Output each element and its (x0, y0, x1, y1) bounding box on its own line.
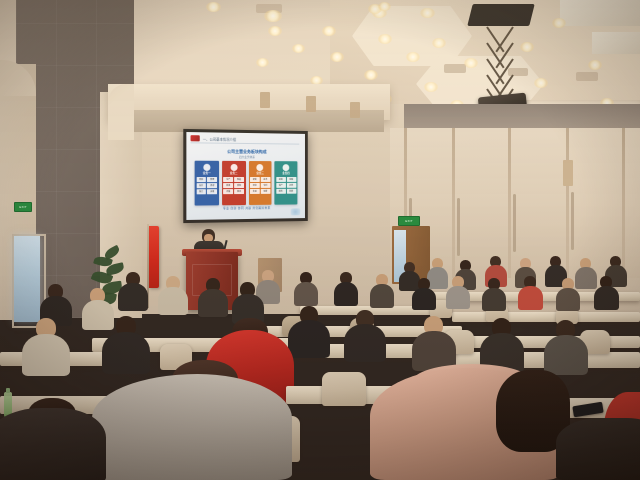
slide-footer: 专业·创新·协同·共赢 共创美好未来 (186, 205, 305, 210)
attendee-body (102, 332, 150, 374)
slide-card-title: 业务四 (275, 171, 298, 175)
foreground-dark-person-left (0, 408, 106, 480)
slide-cell: 物流 (234, 189, 244, 194)
attendee-body (575, 267, 597, 289)
slide-card-grid: 投资 金融 资产 运营 服务 拓展 (275, 176, 298, 194)
attendee-body (344, 324, 386, 362)
slide-cell: 生产 (223, 177, 233, 182)
partition-seam (622, 128, 625, 278)
partition-handle[interactable] (571, 192, 574, 250)
soffit-face (116, 110, 384, 132)
attendee-body (412, 288, 436, 310)
slide-cell: 转化 (250, 182, 260, 187)
downlight (206, 2, 221, 12)
slide-cell: 检测 (223, 183, 233, 188)
exit-sign-left: EXIT (14, 202, 32, 212)
attendee-body (594, 286, 619, 310)
slide-cell: 咨询 (207, 183, 217, 188)
slide-cell: 金融 (287, 176, 296, 181)
slide-cell: 技术 (261, 176, 271, 181)
exit-sign-right: EXIT (398, 216, 420, 226)
foreground-gray-sweater-person (92, 374, 292, 480)
slide-breadcrumb: 一、公司基本情况介绍 (203, 136, 236, 142)
slide-card-grid: 项目 管理 设计 咨询 施工 运维 (195, 177, 219, 196)
foreground-dark-person-right (556, 418, 640, 480)
skylight-2 (592, 32, 640, 54)
slide-watermark-icon (291, 208, 301, 215)
slide-card-title: 业务二 (222, 171, 246, 175)
wall-bracket-2 (306, 96, 316, 112)
attendee-body (544, 335, 588, 375)
table-row (452, 312, 640, 322)
wall-bracket-3 (350, 102, 360, 118)
partition-seam (508, 128, 511, 278)
ceiling-vent-1 (444, 64, 466, 73)
downlight (322, 26, 336, 36)
slide-subtitle: 四大业务体系 (186, 155, 305, 160)
projection-screen-frame: 一、公司基本情况介绍 公司主营业务板块构成 四大业务体系 业务一 项目 管理 设… (183, 129, 308, 223)
slide-card-title: 业务三 (248, 171, 271, 175)
partition-plate (563, 160, 573, 186)
slide-cell: 服务 (276, 188, 286, 193)
downlight (268, 26, 282, 36)
downlight (330, 52, 344, 62)
projection-screen-surface: 一、公司基本情况介绍 公司主营业务板块构成 四大业务体系 业务一 项目 管理 设… (186, 132, 305, 220)
downlight (264, 10, 282, 22)
exit-sign-left-label: EXIT (19, 206, 26, 209)
slide-cell: 运营 (287, 182, 296, 187)
slide-cell: 制造 (234, 177, 244, 182)
downlight (256, 58, 269, 67)
ceiling-hatch (467, 4, 534, 26)
slide-cell: 投资 (276, 176, 286, 181)
downlight (432, 38, 446, 48)
slide-card-blue: 业务一 项目 管理 设计 咨询 施工 运维 (195, 161, 219, 206)
chair (322, 372, 366, 406)
downlight (378, 2, 391, 11)
slide-card-title: 业务一 (195, 171, 219, 175)
downlight (420, 8, 435, 18)
slide-cell: 研发 (250, 176, 260, 181)
slide-cell: 创新 (261, 188, 271, 193)
downlight (378, 34, 392, 44)
slide-cell: 质控 (234, 183, 244, 188)
slide-cell: 设计 (196, 183, 206, 188)
attendee-body (556, 288, 580, 311)
slide-cell: 拓展 (287, 188, 296, 193)
slide-cell: 专利 (261, 182, 271, 187)
slide-card-teal: 业务四 投资 金融 资产 运营 服务 拓展 (275, 161, 298, 205)
chart-icon (283, 164, 290, 171)
lecture-hall-photo: EXIT EXIT 一、公司基本情况介绍 公司主营业务板块构成 四大业务体系 (0, 0, 640, 480)
attendee-body (294, 282, 318, 306)
partition-handle[interactable] (457, 198, 460, 256)
slide-logo-icon (191, 135, 200, 141)
slide-cell: 项目 (196, 177, 206, 182)
partition-seam (452, 128, 455, 278)
red-flag (149, 226, 159, 288)
downlight (364, 70, 378, 80)
downlight (588, 60, 602, 70)
attendee-body (198, 289, 228, 317)
attendee-body (288, 320, 330, 358)
wall-bracket-1 (260, 92, 270, 108)
attendee-body (22, 334, 70, 376)
left-window (14, 236, 40, 322)
slide-card-grid: 生产 制造 检测 质控 仓储 物流 (222, 177, 246, 196)
slide-card-row: 业务一 项目 管理 设计 咨询 施工 运维 业务二 生产 制造 (195, 161, 298, 206)
attendee-body (370, 284, 394, 308)
slide-card-orange: 业务三 研发 技术 转化 专利 实验 创新 (248, 161, 271, 205)
attendee-body (518, 286, 543, 310)
slide-cell: 实验 (250, 188, 260, 193)
slide-cell: 运维 (207, 189, 217, 194)
attendee-body (82, 300, 114, 330)
slide-cell: 施工 (196, 189, 206, 194)
attendee-body (446, 286, 470, 309)
slide-cell: 仓储 (223, 189, 233, 194)
slide-card-red: 业务二 生产 制造 检测 质控 仓储 物流 (222, 161, 246, 205)
partition-handle[interactable] (513, 194, 516, 252)
skylight-1 (560, 0, 640, 26)
attendee-body (158, 287, 188, 315)
attendee-body (482, 288, 506, 311)
attendee-body (399, 271, 420, 291)
lightbulb-icon (257, 164, 264, 171)
downlight (552, 18, 566, 28)
attendee-body (427, 267, 448, 289)
downlight (406, 52, 420, 62)
ceiling-vent-3 (576, 72, 598, 81)
attendee-body (118, 283, 148, 311)
slide-cell: 资产 (276, 182, 286, 187)
partition-seam (566, 128, 569, 278)
exit-sign-right-label: EXIT (405, 220, 412, 223)
factory-icon (230, 163, 237, 170)
downlight (464, 58, 478, 68)
downlight (520, 42, 534, 52)
recycle-icon (203, 163, 210, 170)
scissor-lift-arm (487, 24, 513, 102)
downlight (292, 44, 305, 53)
downlight (534, 78, 548, 88)
slide-card-grid: 研发 技术 转化 专利 实验 创新 (248, 176, 271, 194)
soffit-edge (108, 84, 134, 140)
attendee-body (334, 282, 358, 306)
downlight (424, 82, 438, 92)
slide-cell: 管理 (207, 177, 217, 182)
